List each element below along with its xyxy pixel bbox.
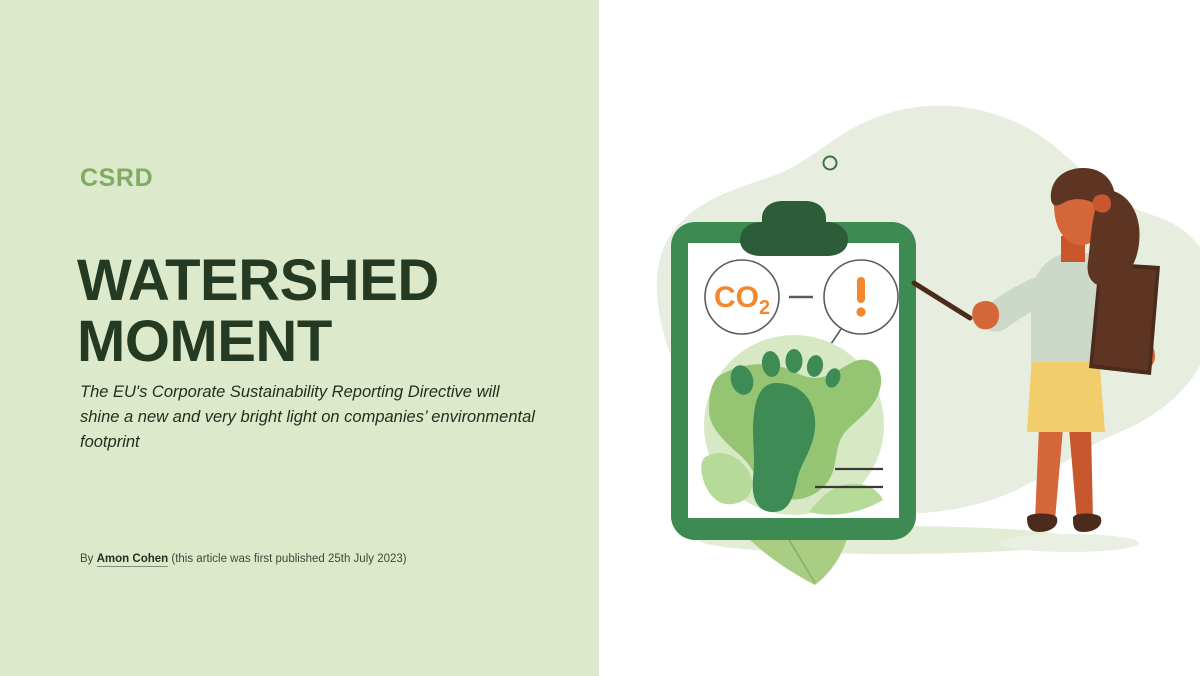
left-text-panel: CSRD WATERSHED MOMENT The EU's Corporate… — [0, 0, 599, 676]
page-title: WATERSHED MOMENT — [77, 251, 547, 373]
shoe-front — [1027, 514, 1057, 533]
left-panel-content: CSRD WATERSHED MOMENT The EU's Corporate… — [80, 0, 550, 676]
co2-bubble-icon: CO2 — [705, 260, 779, 334]
warning-bubble-icon — [824, 260, 898, 334]
leg-back — [1069, 428, 1093, 522]
leg-front — [1035, 428, 1063, 520]
clipboard: CO2 — [671, 201, 916, 540]
article-hero-page: CSRD WATERSHED MOMENT The EU's Corporate… — [0, 0, 1200, 676]
byline: By Amon Cohen (this article was first pu… — [80, 552, 407, 567]
ground-shadow-secondary — [999, 534, 1139, 552]
hand-gripping — [972, 301, 999, 329]
author-link[interactable]: Amon Cohen — [97, 553, 169, 567]
hero-illustration: CO2 — [599, 0, 1200, 676]
headline-line-1: WATERSHED — [77, 248, 439, 313]
footprint-toe-3 — [786, 349, 803, 373]
article-standfirst: The EU's Corporate Sustainability Report… — [80, 380, 540, 455]
headline-line-2: MOMENT — [77, 312, 547, 373]
byline-publish-note: (this article was first published 25th J… — [168, 553, 406, 565]
byline-prefix: By — [80, 553, 97, 565]
category-eyebrow: CSRD — [80, 166, 153, 191]
illustration-canvas: CO2 — [599, 0, 1200, 676]
co2-subscript: 2 — [759, 297, 770, 319]
shoe-back — [1073, 514, 1101, 533]
